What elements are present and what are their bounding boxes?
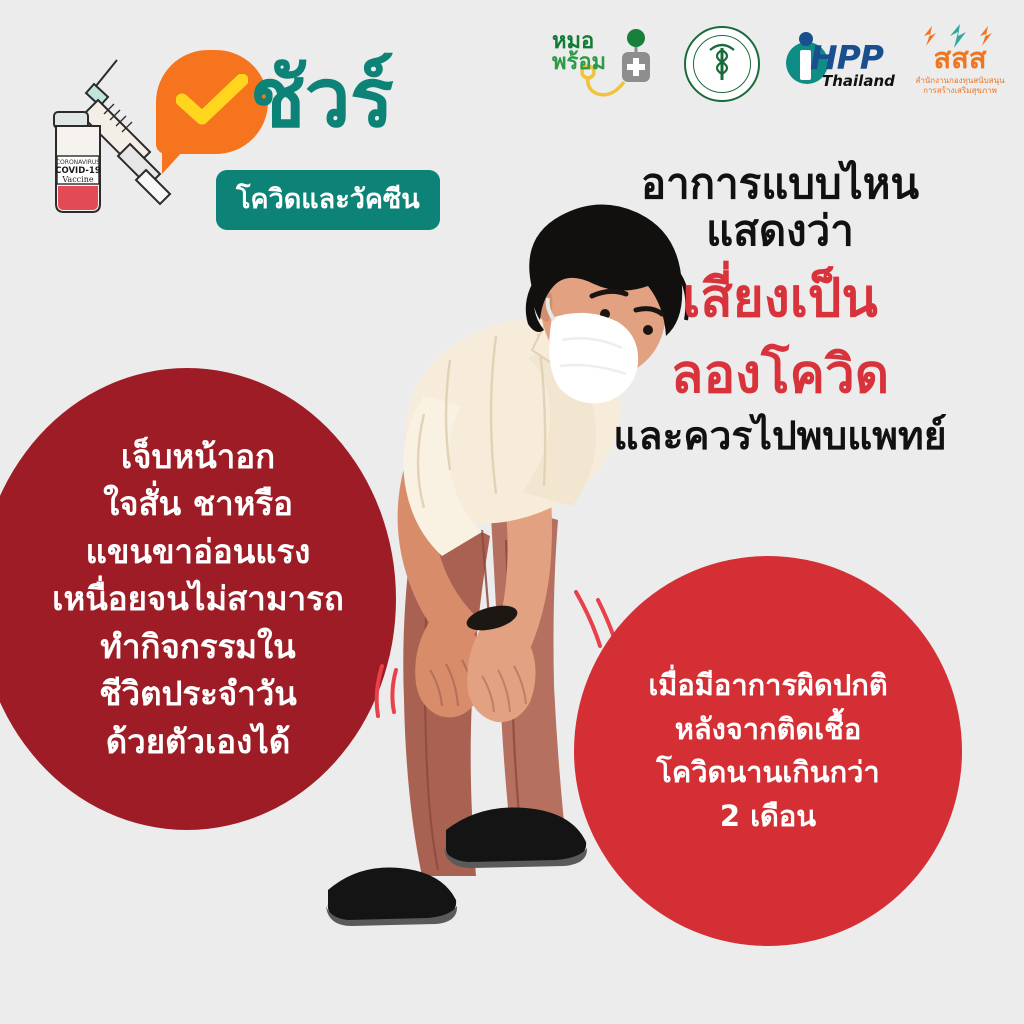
vial-label-coronavirus: CORONAVIRUS xyxy=(56,159,100,166)
ihpp-thailand-logo: HPP Thailand xyxy=(786,24,890,104)
headline-line-2: แสดงว่า xyxy=(570,207,990,254)
condition-bubble-right-text: เมื่อมีอาการผิดปกติ หลังจากติดเชื้อ โควิ… xyxy=(648,664,887,838)
thaihealth-subtitle-line2: การสร้างเสริมสุขภาพ xyxy=(912,86,1008,96)
brand-word: ชัวร์ xyxy=(250,58,393,140)
headline-highlight-2: ลองโควิด xyxy=(570,344,990,405)
thaihealth-wordmark: สสส xyxy=(914,44,1006,73)
mor-prom-wordmark: หมอ พร้อม xyxy=(552,32,606,74)
condition-line: 2 เดือน xyxy=(648,795,887,839)
headline-tail: และควรไปพบแพทย์ xyxy=(570,415,990,459)
shoe-back xyxy=(326,867,457,926)
ihpp-country-label: Thailand xyxy=(822,72,895,90)
vial-label-vaccine: Vaccine xyxy=(61,175,93,184)
mor-prom-logo: หมอ พร้อม xyxy=(550,24,658,104)
symptom-bubble-left-text: เจ็บหน้าอก ใจสั่น ชาหรือ แขนขาอ่อนแรง เห… xyxy=(30,433,344,766)
condition-line: โควิดนานเกินกว่า xyxy=(648,751,887,795)
pain-motion-lines-left xyxy=(377,666,396,716)
headline-highlight-1: เสี่ยงเป็น xyxy=(570,268,990,329)
headline-line-1: อาการแบบไหน xyxy=(570,160,990,207)
caduceus-seal-icon xyxy=(684,26,760,102)
condition-line: เมื่อมีอาการผิดปกติ xyxy=(648,664,887,708)
condition-bubble-right: เมื่อมีอาการผิดปกติ หลังจากติดเชื้อ โควิ… xyxy=(574,556,962,946)
mor-prom-line2: พร้อม xyxy=(552,53,606,74)
infographic-poster: CORONAVIRUS COVID-19 Vaccine ชัวร์ โควิด… xyxy=(0,0,1024,1024)
thaihealth-sss-logo: สสส สำนักงานกองทุนสนับสนุน การสร้างเสริม… xyxy=(912,24,1008,104)
headline: อาการแบบไหน แสดงว่า เสี่ยงเป็น ลองโควิด … xyxy=(570,160,990,459)
partner-logos: หมอ พร้อม xyxy=(550,22,1008,106)
ministry-of-public-health-logo xyxy=(680,24,764,104)
thaihealth-subtitle: สำนักงานกองทุนสนับสนุน การสร้างเสริมสุขภ… xyxy=(912,76,1008,96)
thaihealth-subtitle-line1: สำนักงานกองทุนสนับสนุน xyxy=(912,76,1008,86)
condition-line: หลังจากติดเชื้อ xyxy=(648,708,887,752)
check-mark-icon xyxy=(176,74,248,126)
